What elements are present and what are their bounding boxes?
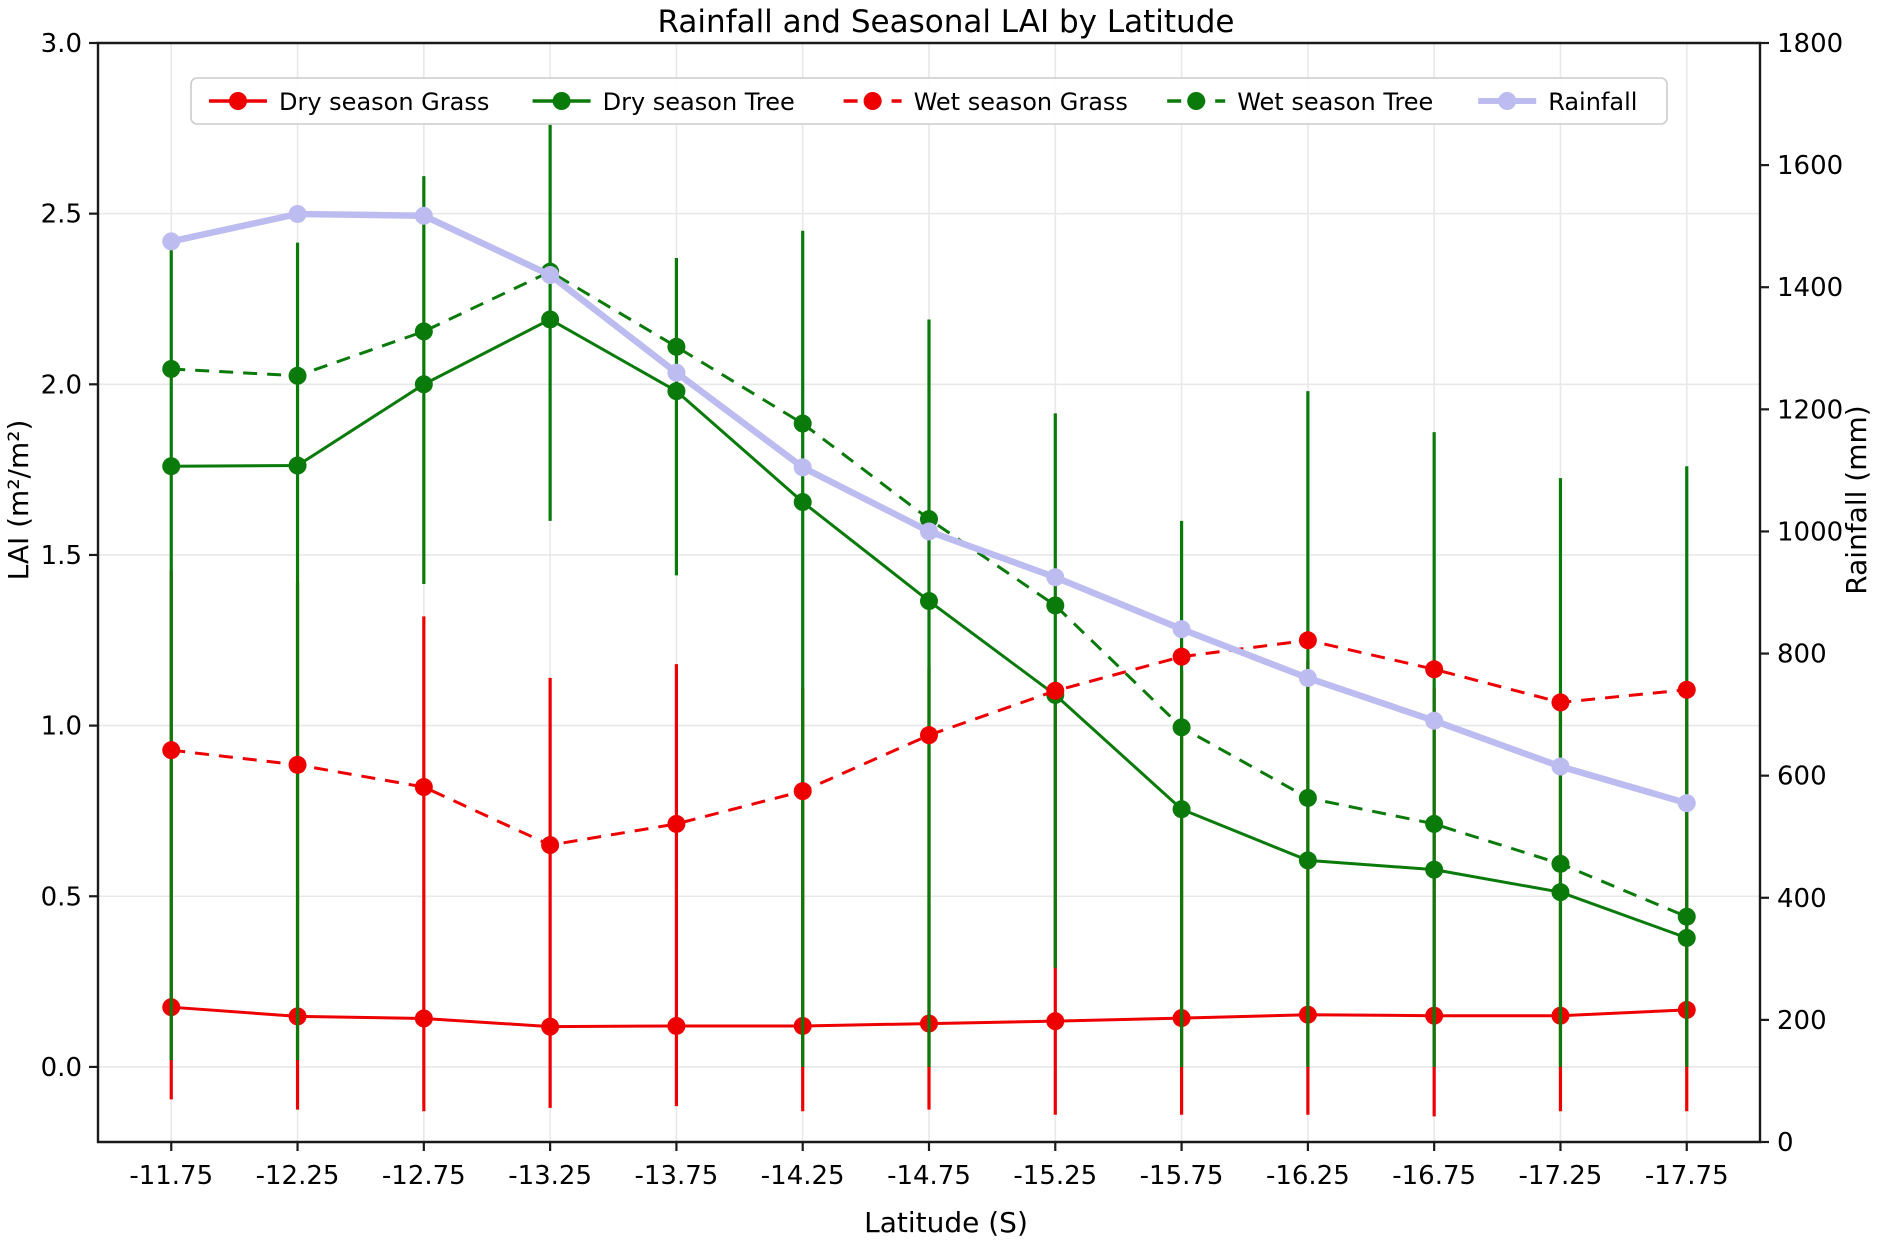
data-point <box>667 338 685 356</box>
data-point <box>1678 794 1696 812</box>
x-tick-label: -15.25 <box>1013 1161 1097 1191</box>
chart-title: Rainfall and Seasonal LAI by Latitude <box>658 4 1235 40</box>
data-point <box>1173 718 1191 736</box>
x-tick-label: -16.75 <box>1392 1161 1476 1191</box>
data-point <box>1299 631 1317 649</box>
y-axis-label: LAI (m²/m²) <box>2 420 35 581</box>
data-point <box>541 836 559 854</box>
x-tick-label: -13.75 <box>635 1161 719 1191</box>
legend-marker <box>1187 92 1205 110</box>
data-point <box>667 815 685 833</box>
data-point <box>162 232 180 250</box>
data-point <box>162 741 180 759</box>
y2-tick-label: 1400 <box>1777 273 1843 303</box>
data-point <box>1678 681 1696 699</box>
legend-label: Dry season Grass <box>279 88 489 116</box>
data-point <box>162 457 180 475</box>
legend-marker <box>553 92 571 110</box>
data-point <box>541 266 559 284</box>
y2-tick-label: 800 <box>1777 640 1827 670</box>
y2-tick-label: 200 <box>1777 1006 1827 1036</box>
legend-marker <box>1498 92 1516 110</box>
data-point <box>1551 855 1569 873</box>
x-tick-label: -17.75 <box>1645 1161 1729 1191</box>
data-point <box>1425 861 1443 879</box>
data-point <box>1551 758 1569 776</box>
data-point <box>794 493 812 511</box>
data-point <box>1299 669 1317 687</box>
data-point <box>1173 800 1191 818</box>
x-axis-label: Latitude (S) <box>864 1206 1028 1239</box>
data-point <box>667 364 685 382</box>
data-point <box>541 310 559 328</box>
chart-legend[interactable]: Dry season GrassDry season TreeWet seaso… <box>191 78 1667 124</box>
x-tick-label: -13.25 <box>508 1161 592 1191</box>
y-tick-label: 3.0 <box>41 29 82 59</box>
data-point <box>415 778 433 796</box>
data-point <box>162 360 180 378</box>
data-point <box>920 726 938 744</box>
x-tick-label: -14.75 <box>887 1161 971 1191</box>
data-point <box>1046 568 1064 586</box>
data-point <box>289 756 307 774</box>
data-point <box>1425 815 1443 833</box>
y2-tick-label: 600 <box>1777 762 1827 792</box>
rainfall-lai-chart: 0.00.51.01.52.02.53.00200400600800100012… <box>0 0 1892 1257</box>
x-tick-label: -11.75 <box>129 1161 213 1191</box>
y2-tick-label: 400 <box>1777 884 1827 914</box>
data-point <box>920 522 938 540</box>
data-point <box>1173 648 1191 666</box>
data-point <box>415 207 433 225</box>
y-tick-label: 2.5 <box>41 200 82 230</box>
data-point <box>289 205 307 223</box>
data-point <box>1551 693 1569 711</box>
y-tick-label: 0.5 <box>41 882 82 912</box>
y2-tick-label: 1000 <box>1777 517 1843 547</box>
legend-marker <box>864 92 882 110</box>
data-point <box>1046 682 1064 700</box>
x-tick-label: -12.25 <box>256 1161 340 1191</box>
data-point <box>1046 596 1064 614</box>
y2-tick-label: 1200 <box>1777 395 1843 425</box>
data-point <box>415 1009 433 1027</box>
x-tick-label: -16.25 <box>1266 1161 1350 1191</box>
x-tick-label: -14.25 <box>761 1161 845 1191</box>
legend-label: Rainfall <box>1548 88 1637 116</box>
y-tick-label: 1.0 <box>41 712 82 742</box>
data-point <box>1173 620 1191 638</box>
y2-tick-label: 0 <box>1777 1128 1794 1158</box>
y-tick-label: 1.5 <box>41 541 82 571</box>
data-point <box>1299 851 1317 869</box>
data-point <box>1299 789 1317 807</box>
data-point <box>794 782 812 800</box>
data-point <box>1551 883 1569 901</box>
y-tick-label: 2.0 <box>41 370 82 400</box>
data-point <box>415 322 433 340</box>
y-tick-label: 0.0 <box>41 1053 82 1083</box>
data-point <box>415 375 433 393</box>
legend-marker <box>229 92 247 110</box>
x-tick-label: -15.75 <box>1140 1161 1224 1191</box>
data-point <box>667 1017 685 1035</box>
data-point <box>289 367 307 385</box>
x-tick-label: -17.25 <box>1519 1161 1603 1191</box>
legend-label: Dry season Tree <box>603 88 795 116</box>
data-point <box>1425 712 1443 730</box>
secondary-y-axis-label: Rainfall (mm) <box>1840 405 1873 594</box>
legend-label: Wet season Tree <box>1237 88 1433 116</box>
chart-figure: 0.00.51.01.52.02.53.00200400600800100012… <box>0 0 1892 1257</box>
data-point <box>289 457 307 475</box>
x-tick-label: -12.75 <box>382 1161 466 1191</box>
data-point <box>920 592 938 610</box>
data-point <box>794 415 812 433</box>
data-point <box>794 458 812 476</box>
data-point <box>667 382 685 400</box>
data-point <box>1678 929 1696 947</box>
data-point <box>1046 1012 1064 1030</box>
data-point <box>541 1018 559 1036</box>
data-point <box>1678 908 1696 926</box>
y2-tick-label: 1800 <box>1777 29 1843 59</box>
y2-tick-label: 1600 <box>1777 151 1843 181</box>
legend-label: Wet season Grass <box>914 88 1128 116</box>
data-point <box>1425 660 1443 678</box>
